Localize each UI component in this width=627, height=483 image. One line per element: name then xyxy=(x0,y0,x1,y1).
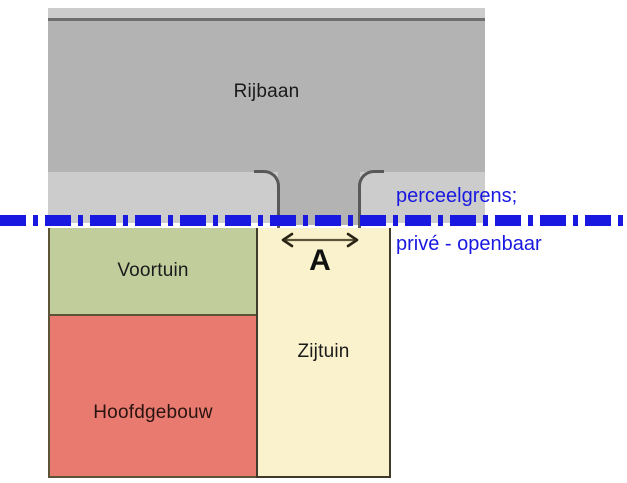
parcel-front-garden: Voortuin xyxy=(48,228,258,316)
legend-line-perceelgrens: perceelgrens; xyxy=(396,186,517,206)
roadway-area: Rijbaan xyxy=(48,18,485,172)
dimension-label-a: A xyxy=(278,246,362,276)
parcel-label-front-garden: Voortuin xyxy=(50,260,256,282)
property-boundary-line xyxy=(0,214,627,227)
parcel-label-main-building: Hoofdgebouw xyxy=(50,402,256,424)
legend-line-prive-openbaar: privé - openbaar xyxy=(396,234,542,254)
diagram-canvas: Rijbaan Voortuin Hoofdgebouw Zijtuin A p… xyxy=(0,0,627,483)
roadway-label: Rijbaan xyxy=(48,81,485,103)
parcel-main-building: Hoofdgebouw xyxy=(48,314,258,478)
parcel-label-side-garden: Zijtuin xyxy=(258,341,389,363)
